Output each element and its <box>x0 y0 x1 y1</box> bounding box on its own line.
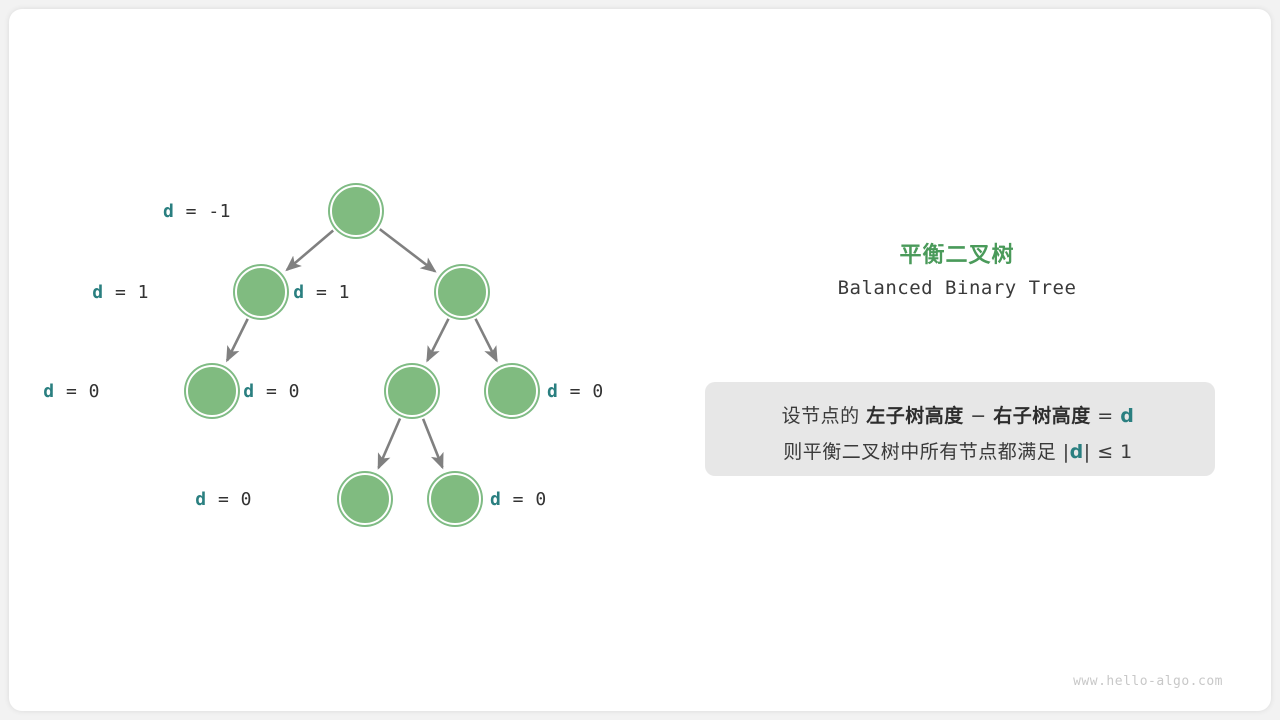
balance-var-d: d <box>163 201 174 222</box>
balance-value: = -1 <box>174 201 231 222</box>
tree-node-n4[interactable] <box>386 365 438 417</box>
content-card: d = -1d = 1d = 1d = 0d = 0d = 0d = 0d = … <box>9 9 1271 711</box>
balance-factor-label-n2: d = 1 <box>9 282 350 303</box>
balance-var-d: d <box>195 489 206 510</box>
watermark: www.hello-algo.com <box>1073 674 1223 689</box>
balance-var-d: d <box>547 381 558 402</box>
tree-edge <box>227 319 248 361</box>
balance-value: = 0 <box>207 489 252 510</box>
definition-line-1: 设节点的 左子树高度 − 右子树高度 = d <box>703 401 1213 428</box>
balance-factor-label-n6: d = 0 <box>9 489 252 510</box>
tree-edge <box>379 419 400 468</box>
diagram-page: d = -1d = 1d = 1d = 0d = 0d = 0d = 0d = … <box>0 0 1280 720</box>
definition-equals: = <box>1091 405 1121 427</box>
definition-minus: − <box>964 405 994 427</box>
tree-edge <box>380 229 435 271</box>
tree-node-n2[interactable] <box>436 266 488 318</box>
tree-edges-svg <box>9 9 669 711</box>
definition-left-height: 左子树高度 <box>866 405 964 427</box>
definition-text-prefix: 设节点的 <box>782 405 867 427</box>
balance-value: = 0 <box>255 381 300 402</box>
balance-var-d: d <box>293 282 304 303</box>
tree-edge <box>287 230 333 269</box>
definition-right-height: 右子树高度 <box>993 405 1091 427</box>
balance-var-d: d <box>490 489 501 510</box>
info-panel: 平衡二叉树 Balanced Binary Tree 设节点的 左子树高度 − … <box>703 9 1223 711</box>
balance-factor-label-n5: d = 0 <box>547 381 604 402</box>
tree-edge <box>423 419 442 468</box>
binary-tree-diagram: d = -1d = 1d = 1d = 0d = 0d = 0d = 0d = … <box>9 9 669 711</box>
panel-title: 平衡二叉树 <box>703 237 1211 269</box>
balance-value: = 0 <box>558 381 603 402</box>
tree-node-n5[interactable] <box>486 365 538 417</box>
tree-edge-group <box>227 229 497 468</box>
definition-line-2: 则平衡二叉树中所有节点都满足 |d| ≤ 1 <box>703 437 1213 464</box>
balance-value: = 0 <box>501 489 546 510</box>
tree-node-n0[interactable] <box>330 185 382 237</box>
balance-factor-label-n0: d = -1 <box>9 201 231 222</box>
balance-value: = 1 <box>305 282 350 303</box>
balance-var-d: d <box>243 381 254 402</box>
balance-factor-label-n7: d = 0 <box>490 489 547 510</box>
tree-edge <box>476 319 497 361</box>
definition-variable-d: d <box>1120 405 1134 427</box>
constraint-text-prefix: 则平衡二叉树中所有节点都满足 | <box>783 441 1069 463</box>
panel-subtitle: Balanced Binary Tree <box>703 277 1211 299</box>
balance-factor-label-n4: d = 0 <box>9 381 300 402</box>
tree-node-n6[interactable] <box>339 473 391 525</box>
tree-edge <box>427 319 448 361</box>
tree-node-n7[interactable] <box>429 473 481 525</box>
constraint-text-suffix: | ≤ 1 <box>1084 441 1133 463</box>
constraint-variable-d: d <box>1070 441 1084 463</box>
